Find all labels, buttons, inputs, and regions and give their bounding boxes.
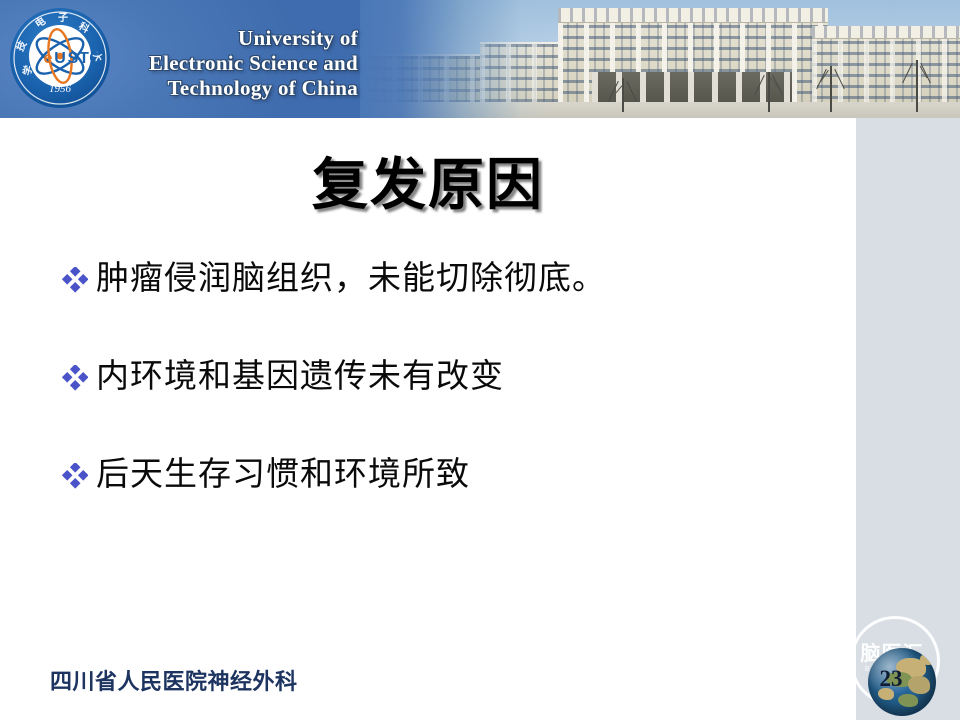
roof-parapet-central [558,8,828,23]
svg-text:U: U [54,50,66,67]
roof-parapet-right [812,26,960,39]
logo-founded-year: 1956 [49,83,72,95]
tree-silhouette [830,66,832,112]
right-side-band [856,118,960,720]
list-item: 肿瘤侵润脑组织，未能切除彻底。 [62,258,832,298]
page-title: 复发原因 [0,152,856,220]
tree-silhouette [622,78,624,112]
page-number: 23 [868,666,914,692]
university-name: University of Electronic Science and Tec… [118,26,358,101]
svg-text:C: C [89,50,101,67]
parapet-slots [812,26,960,38]
svg-text:T: T [79,50,89,67]
list-item-label: 后天生存习惯和环境所致 [96,454,470,494]
bullet-list: 肿瘤侵润脑组织，未能切除彻底。 内环境和基因遗传未有改变 [62,258,832,494]
tree-silhouette [916,60,918,112]
diamond-cluster-bullet-icon [62,454,92,494]
svg-text:e: e [44,50,53,67]
diamond-cluster-bullet-icon [62,356,92,396]
tree-silhouette [768,72,770,112]
list-item-label: 肿瘤侵润脑组织，未能切除彻底。 [96,258,606,298]
diamond-cluster-bullet-icon [62,258,92,298]
university-name-line-1: University of [118,26,358,51]
list-item: 内环境和基因遗传未有改变 [62,356,832,396]
list-item: 后天生存习惯和环境所致 [62,454,832,494]
campus-building-photo [360,0,960,118]
footer-organization: 四川省人民医院神经外科 [50,668,298,696]
uestc-logo: 电 子 科 技 大 学 U S T [8,6,112,110]
list-item-label: 内环境和基因遗传未有改变 [96,356,504,396]
presentation-slide: 电 子 科 技 大 学 U S T [0,0,960,720]
university-name-line-2: Electronic Science and [118,51,358,76]
university-name-line-3: Technology of China [118,76,358,101]
slide-header-banner: 电 子 科 技 大 学 U S T [0,0,960,118]
parapet-slots [558,8,828,22]
svg-text:子: 子 [58,12,68,24]
svg-text:S: S [68,50,79,67]
photo-blue-fade [360,0,550,118]
